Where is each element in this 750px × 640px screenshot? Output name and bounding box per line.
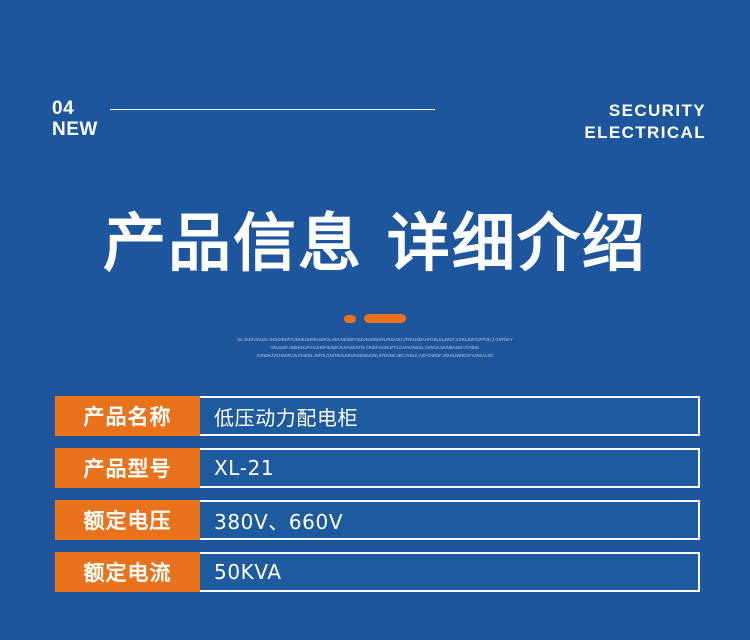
product-info-banner: 04 NEW SECURITY ELECTRICAL 产品信息 详细介绍 OL;… (0, 0, 750, 640)
accent-dot-small-icon (344, 315, 356, 323)
placeholder-line-1: OL;JKDFJGLDS.JHGOIRDFGJNHKJDERKSDFJL,SDV… (0, 336, 750, 344)
spec-table: 产品名称 低压动力配电柜 产品型号 XL-21 额定电压 380V、660V 额… (55, 396, 700, 592)
section-marker: 04 NEW (52, 98, 98, 141)
placeholder-paragraph: OL;JKDFJGLDS.JHGOIRDFGJNHKJDERKSDFJL,SDV… (0, 336, 750, 359)
accent-dots (0, 314, 750, 323)
placeholder-line-3: KVNDKJVCHSDFUJLFDSGN.JHFDLGNITRHLKRUFOES… (0, 352, 750, 360)
table-row: 产品型号 XL-21 (55, 448, 700, 488)
spec-label-rated-voltage: 额定电压 (55, 500, 200, 540)
header-divider-line (110, 109, 435, 110)
brand-name: SECURITY ELECTRICAL (584, 100, 706, 144)
placeholder-line-2: OSUKOF.JSENGKJFSGJHDFIKSDF.RJVASEGFN;CRI… (0, 344, 750, 352)
table-row: 额定电流 50KVA (55, 552, 700, 592)
spec-label-rated-current: 额定电流 (55, 552, 200, 592)
section-number: 04 (52, 98, 98, 119)
spec-value-rated-current: 50KVA (200, 552, 700, 592)
spec-value-product-name: 低压动力配电柜 (200, 396, 700, 436)
table-row: 额定电压 380V、660V (55, 500, 700, 540)
spec-label-product-model: 产品型号 (55, 448, 200, 488)
section-label: NEW (52, 119, 98, 140)
spec-value-rated-voltage: 380V、660V (200, 500, 700, 540)
accent-dot-bar-icon (364, 314, 406, 323)
spec-label-product-name: 产品名称 (55, 396, 200, 436)
page-title: 产品信息 详细介绍 (0, 212, 750, 275)
brand-line-1: SECURITY (584, 100, 706, 122)
table-row: 产品名称 低压动力配电柜 (55, 396, 700, 436)
brand-line-2: ELECTRICAL (584, 122, 706, 144)
banner-header: 04 NEW SECURITY ELECTRICAL (0, 98, 750, 168)
spec-value-product-model: XL-21 (200, 448, 700, 488)
